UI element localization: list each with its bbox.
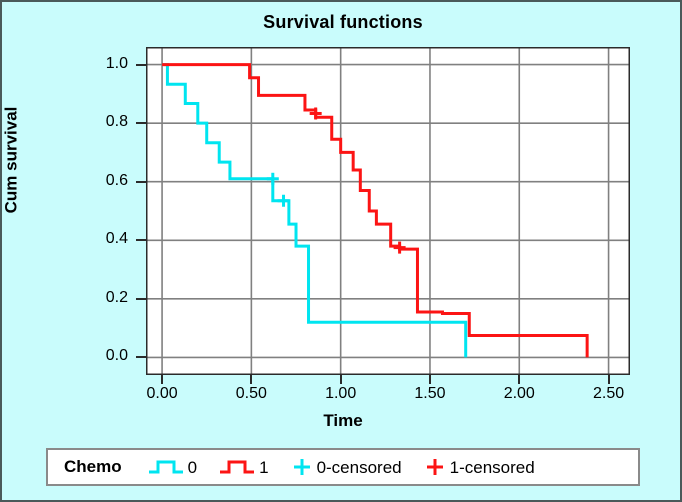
y-tick-mark — [136, 239, 146, 241]
x-tick-label: 1.50 — [395, 385, 465, 403]
x-tick-label: 0.50 — [216, 385, 286, 403]
x-tick-label: 2.00 — [484, 385, 554, 403]
legend-item-label: 0-censored — [317, 459, 402, 476]
legend-item-label: 0 — [188, 459, 197, 476]
legend-step-line-icon — [148, 458, 184, 476]
legend-step-line-icon — [219, 458, 255, 476]
plot-area — [146, 47, 630, 375]
chart-title: Survival functions — [2, 12, 682, 33]
legend: Chemo 010-censored1-censored — [46, 448, 640, 486]
y-tick-mark — [136, 122, 146, 124]
survival-plot-svg — [146, 47, 630, 375]
legend-item-1-censored[interactable]: 1-censored — [424, 456, 535, 478]
y-tick-label: 0.4 — [68, 230, 128, 248]
y-tick-label: 0.2 — [68, 289, 128, 307]
y-tick-mark — [136, 356, 146, 358]
x-tick-mark — [608, 375, 610, 384]
y-tick-label: 0.6 — [68, 172, 128, 190]
y-tick-label: 0.8 — [68, 113, 128, 131]
plot-background — [146, 47, 630, 375]
legend-item-0[interactable]: 0 — [148, 458, 197, 476]
y-tick-label: 1.0 — [68, 55, 128, 73]
x-tick-label: 2.50 — [574, 385, 644, 403]
x-tick-mark — [161, 375, 163, 384]
legend-item-label: 1-censored — [450, 459, 535, 476]
x-tick-mark — [518, 375, 520, 384]
x-tick-mark — [340, 375, 342, 384]
y-tick-label: 0.0 — [68, 347, 128, 365]
legend-item-1[interactable]: 1 — [219, 458, 268, 476]
legend-plus-icon — [291, 456, 313, 478]
x-axis-label: Time — [2, 411, 682, 431]
legend-items: 010-censored1-censored — [148, 456, 535, 478]
y-tick-mark — [136, 298, 146, 300]
x-tick-label: 0.00 — [127, 385, 197, 403]
x-tick-mark — [429, 375, 431, 384]
legend-item-label: 1 — [259, 459, 268, 476]
legend-plus-icon — [424, 456, 446, 478]
y-axis-label: Cum survival — [1, 107, 21, 214]
y-tick-mark — [136, 64, 146, 66]
legend-item-0-censored[interactable]: 0-censored — [291, 456, 402, 478]
chart-container: Survival functions Cum survival Time 0.0… — [0, 0, 682, 502]
x-tick-label: 1.00 — [306, 385, 376, 403]
y-tick-mark — [136, 181, 146, 183]
x-tick-mark — [250, 375, 252, 384]
legend-title: Chemo — [64, 457, 122, 477]
